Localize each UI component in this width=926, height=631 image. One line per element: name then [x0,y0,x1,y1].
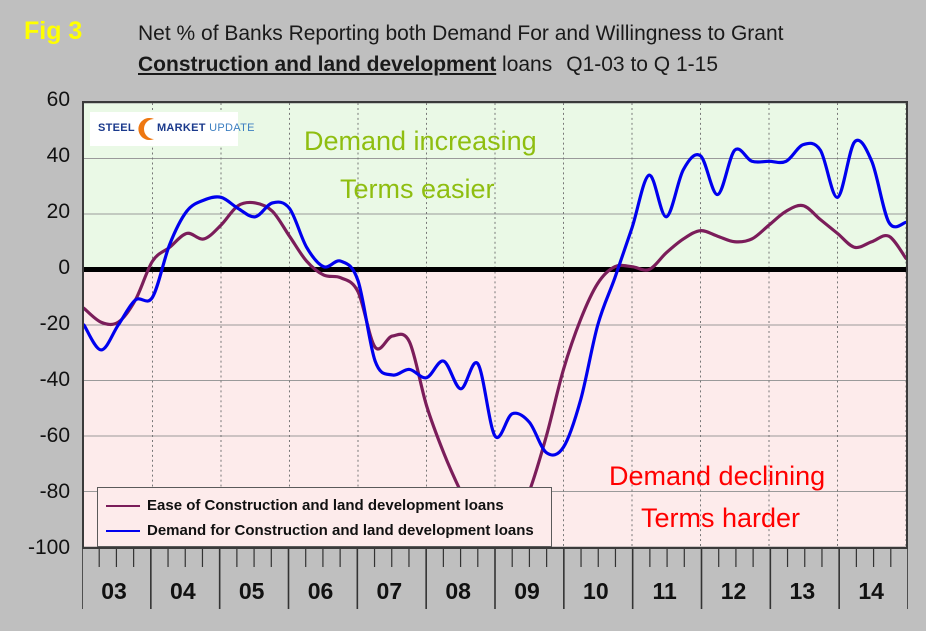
logo-word-steel: STEEL [98,122,135,134]
y-tick-20: 20 [8,200,70,224]
x-axis-labels: 03040506070809101112131415 [82,549,908,619]
steel-market-update-logo: STEELMARKET UPDATE [90,112,238,146]
chart-title-emphasis: Construction and land development [138,53,496,76]
y-tick-0: 0 [8,256,70,280]
chart-title-rest: loans [496,53,552,76]
annotation-demand-declining: Demand declining [609,461,825,492]
y-tick-neg20: -20 [8,312,70,336]
x-tick-15: 15 [918,578,926,605]
legend-swatch-blue [106,530,140,532]
logo-word-update: UPDATE [209,122,255,134]
x-axis-ticks [82,549,908,619]
chart-title-line-1: Net % of Banks Reporting both Demand For… [138,22,783,46]
legend-label-demand: Demand for Construction and land develop… [147,522,534,539]
chart-title-line-2: Construction and land development loansQ… [138,53,718,77]
y-tick-neg80: -80 [8,480,70,504]
y-tick-60: 60 [8,88,70,112]
annotation-terms-harder: Terms harder [641,503,800,534]
y-tick-neg40: -40 [8,368,70,392]
y-tick-neg100: -100 [8,536,70,560]
legend-item-demand: Demand for Construction and land develop… [106,518,543,543]
legend-swatch-purple [106,505,140,507]
legend-label-ease: Ease of Construction and land developmen… [147,497,504,514]
annotation-demand-increasing: Demand increasing [304,126,537,157]
chart-legend: Ease of Construction and land developmen… [97,487,552,547]
figure-tag: Fig 3 [24,17,82,46]
logo-text: STEELMARKET UPDATE [98,122,255,134]
legend-item-ease: Ease of Construction and land developmen… [106,493,543,518]
y-tick-neg60: -60 [8,424,70,448]
annotation-terms-easier: Terms easier [340,174,495,205]
logo-word-market: MARKET [157,122,206,134]
chart-title-range: Q1-03 to Q 1-15 [566,53,718,76]
y-tick-40: 40 [8,144,70,168]
